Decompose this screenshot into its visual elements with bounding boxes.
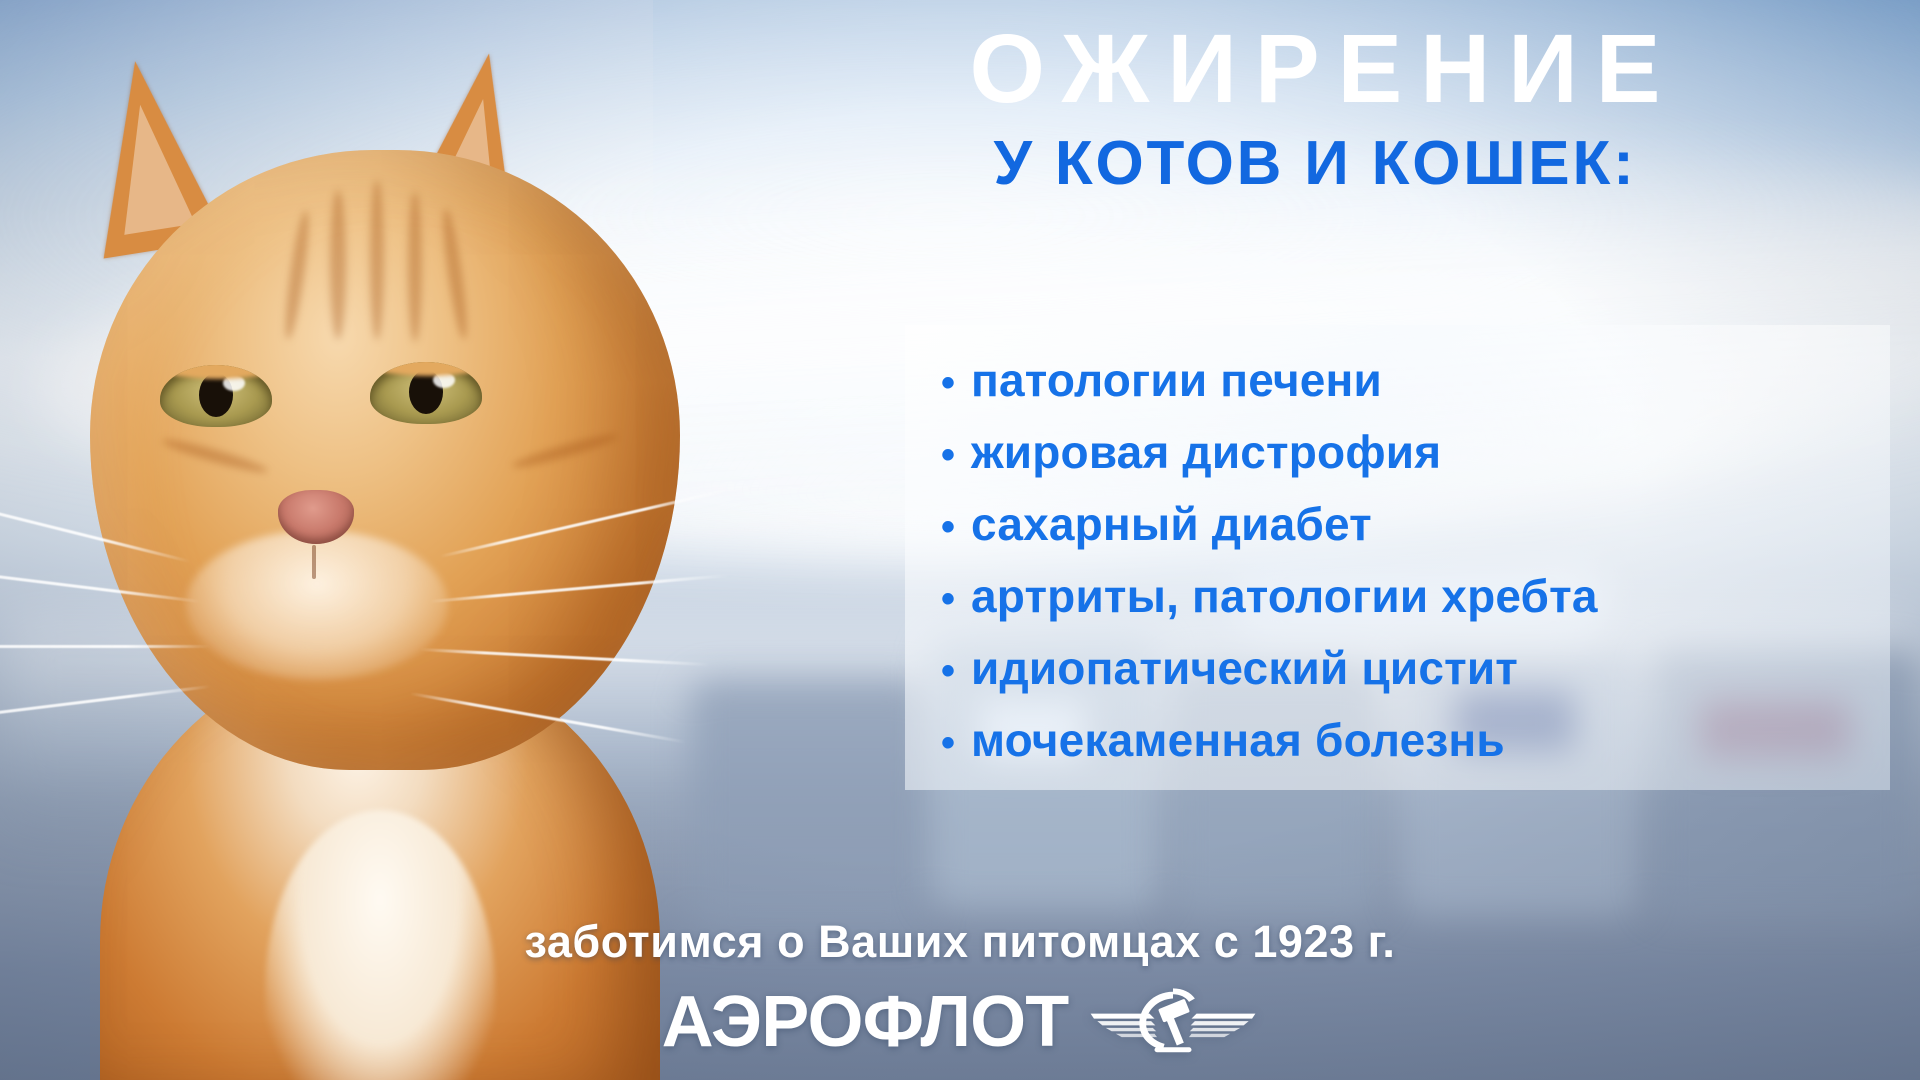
cat-forehead-stripe-5 — [439, 208, 471, 341]
brand-logo: АЭРОФЛОТ — [0, 985, 1920, 1059]
list-item: • артриты, патологии хребта — [941, 561, 1890, 633]
cat-eye-right — [370, 362, 482, 424]
cat-cheek-stripe-left — [160, 435, 269, 477]
symptom-list: • патологии печени • жировая дистрофия •… — [905, 325, 1890, 777]
headline-block: ОЖИРЕНИЕ У КОТОВ И КОШЕК: — [735, 18, 1895, 196]
cat-forehead-stripe-3 — [408, 192, 422, 342]
list-item-label: патологии печени — [971, 345, 1382, 417]
cat-muzzle — [186, 530, 448, 680]
footer-tagline: заботимся о Ваших питомцах с 1923 г. — [0, 916, 1920, 968]
cat-mouth-line — [312, 545, 316, 579]
cat-forehead-stripe-2 — [370, 180, 384, 340]
bullet-icon: • — [941, 579, 971, 619]
page-title: ОЖИРЕНИЕ — [735, 18, 1895, 121]
list-item-label: жировая дистрофия — [971, 417, 1441, 489]
cat-whisker-left-3 — [0, 645, 210, 648]
bullet-icon: • — [941, 723, 971, 763]
list-item: • патологии печени — [941, 345, 1890, 417]
cat-whisker-left-4 — [0, 685, 210, 721]
aeroflot-winged-hammer-sickle-icon — [1088, 985, 1258, 1059]
list-item: • мочекаменная болезнь — [941, 705, 1890, 777]
list-item: • жировая дистрофия — [941, 417, 1890, 489]
cat-head — [90, 150, 680, 770]
cat-forehead-stripe-4 — [281, 210, 313, 341]
cat-eye-left — [160, 365, 272, 427]
cat-forehead-stripe-1 — [330, 190, 346, 340]
list-item: • идиопатический цистит — [941, 633, 1890, 705]
page-subtitle: У КОТОВ И КОШЕК: — [735, 131, 1895, 196]
bullet-icon: • — [941, 651, 971, 691]
cat-cheek-stripe-right — [510, 430, 619, 472]
list-item-label: мочекаменная болезнь — [971, 705, 1505, 777]
symptom-list-panel: • патологии печени • жировая дистрофия •… — [905, 325, 1890, 790]
list-item-label: идиопатический цистит — [971, 633, 1518, 705]
poster-canvas: ОЖИРЕНИЕ У КОТОВ И КОШЕК: • патологии пе… — [0, 0, 1920, 1080]
list-item: • сахарный диабет — [941, 489, 1890, 561]
cat-eyelid-left — [160, 365, 272, 379]
bullet-icon: • — [941, 507, 971, 547]
cat-eyelid-right — [370, 362, 482, 376]
brand-wordmark: АЭРОФЛОТ — [662, 986, 1069, 1058]
bullet-icon: • — [941, 363, 971, 403]
list-item-label: сахарный диабет — [971, 489, 1372, 561]
list-item-label: артриты, патологии хребта — [971, 561, 1598, 633]
bullet-icon: • — [941, 435, 971, 475]
